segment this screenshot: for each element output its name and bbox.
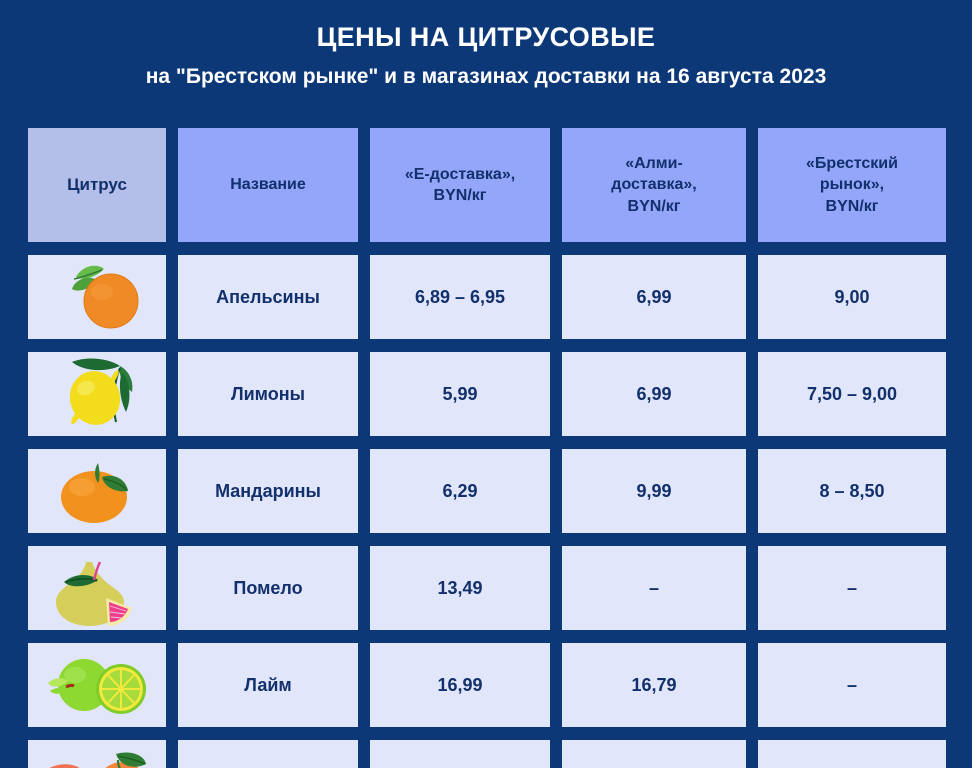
column-header-almi-line1: «Алми- [611, 153, 696, 174]
mandarin-icon [28, 449, 166, 533]
lime-icon [28, 643, 166, 727]
fruit-name: Лимоны [178, 352, 358, 436]
price-edostavka: 13,49 [370, 546, 550, 630]
price-brest: 7,50 – 9,00 [758, 352, 946, 436]
price-almi: 7,99 [562, 740, 746, 768]
column-header-brest-line2: рынок», [806, 174, 898, 195]
price-almi: 16,79 [562, 643, 746, 727]
price-brest: – [758, 740, 946, 768]
fruit-name: Грейпфрут [178, 740, 358, 768]
price-almi: 6,99 [562, 352, 746, 436]
table-row: Апельсины 6,89 – 6,95 6,99 9,00 [28, 255, 944, 339]
price-edostavka: 5,99 [370, 352, 550, 436]
table-row: Грейпфрут 5,65 – 5,95 7,99 – [28, 740, 944, 768]
price-edostavka: 16,99 [370, 643, 550, 727]
price-almi: 9,99 [562, 449, 746, 533]
price-brest: 8 – 8,50 [758, 449, 946, 533]
prices-table: Цитрус Название «Е-доставка», BYN/кг «Ал… [28, 128, 944, 768]
fruit-name: Мандарины [178, 449, 358, 533]
price-brest: 9,00 [758, 255, 946, 339]
column-header-brest-line1: «Брестский [806, 153, 898, 174]
column-header-almi-line2: доставка», [611, 174, 696, 195]
column-header-edostavka: «Е-доставка», BYN/кг [370, 128, 550, 242]
price-almi: – [562, 546, 746, 630]
pomelo-icon [28, 546, 166, 630]
price-brest: – [758, 643, 946, 727]
page-subtitle: на "Брестском рынке" и в магазинах доста… [20, 64, 952, 89]
grapefruit-icon [28, 740, 166, 768]
column-header-edostavka-line2: BYN/кг [405, 185, 515, 206]
table-row: Мандарины 6,29 9,99 8 – 8,50 [28, 449, 944, 533]
table-row: Лимоны 5,99 6,99 7,50 – 9,00 [28, 352, 944, 436]
column-header-brest: «Брестский рынок», BYN/кг [758, 128, 946, 242]
lemon-icon [28, 352, 166, 436]
table-row: Лайм 16,99 16,79 – [28, 643, 944, 727]
page-title: ЦЕНЫ НА ЦИТРУСОВЫЕ [20, 22, 952, 54]
column-header-almi: «Алми- доставка», BYN/кг [562, 128, 746, 242]
price-edostavka: 6,29 [370, 449, 550, 533]
price-brest: – [758, 546, 946, 630]
column-header-edostavka-line1: «Е-доставка», [405, 164, 515, 185]
orange-icon [28, 255, 166, 339]
fruit-name: Помело [178, 546, 358, 630]
column-header-name: Название [178, 128, 358, 242]
citrus-prices-infographic: ЦЕНЫ НА ЦИТРУСОВЫЕ на "Брестском рынке" … [0, 0, 972, 768]
column-header-brest-line3: BYN/кг [806, 196, 898, 217]
price-edostavka: 6,89 – 6,95 [370, 255, 550, 339]
fruit-name: Апельсины [178, 255, 358, 339]
table-header-row: Цитрус Название «Е-доставка», BYN/кг «Ал… [28, 128, 944, 242]
price-edostavka: 5,65 – 5,95 [370, 740, 550, 768]
price-almi: 6,99 [562, 255, 746, 339]
column-header-citrus: Цитрус [28, 128, 166, 242]
column-header-almi-line3: BYN/кг [611, 196, 696, 217]
fruit-name: Лайм [178, 643, 358, 727]
title-block: ЦЕНЫ НА ЦИТРУСОВЫЕ на "Брестском рынке" … [0, 0, 972, 97]
table-row: Помело 13,49 – – [28, 546, 944, 630]
